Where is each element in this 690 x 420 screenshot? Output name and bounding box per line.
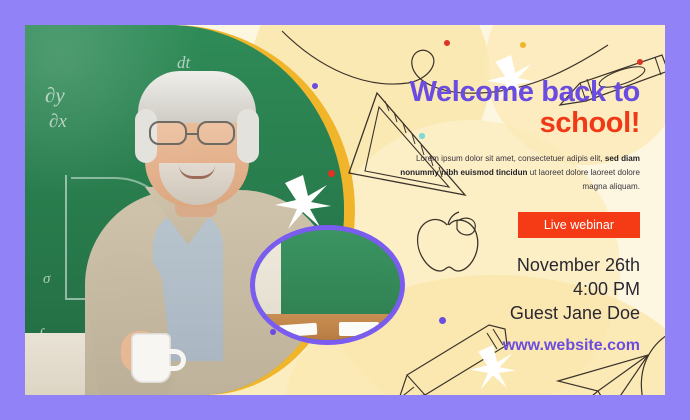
page-title: Welcome back to school!	[385, 77, 640, 140]
live-webinar-button[interactable]: Live webinar	[518, 212, 640, 238]
headline-line-1: Welcome back to	[385, 77, 640, 108]
body-copy-part1: Lorem ipsum dolor sit amet, consectetuer…	[416, 154, 605, 163]
body-copy: Lorem ipsum dolor sit amet, consectetuer…	[385, 152, 640, 194]
notebook-icon	[339, 322, 379, 336]
chalk-writing: σ	[43, 271, 50, 288]
chalk-writing: ∂y	[45, 83, 65, 108]
dot-yellow	[520, 42, 526, 48]
headline-line-2: school!	[385, 108, 640, 139]
coffee-mug-icon	[131, 333, 171, 383]
glasses-icon	[149, 121, 187, 145]
banner-root: ∂y ∂x dt ƒ(t) E= ∫ σ	[0, 0, 690, 420]
banner-canvas: ∂y ∂x dt ƒ(t) E= ∫ σ	[25, 25, 665, 395]
dot-red	[444, 40, 450, 46]
kids-oval-photo	[250, 225, 405, 345]
event-date: November 26th	[385, 254, 640, 278]
dot-red	[637, 59, 643, 65]
dot-red	[328, 170, 335, 177]
paper-plane-icon	[550, 353, 660, 395]
chalk-writing: ∂x	[49, 111, 67, 133]
chalk-writing: dt	[177, 53, 190, 73]
website-link[interactable]: www.website.com	[385, 337, 640, 355]
event-time: 4:00 PM	[385, 278, 640, 302]
content-block: Welcome back to school! Lorem ipsum dolo…	[385, 77, 640, 355]
glasses-bridge	[187, 133, 197, 136]
teacher-hair-side	[237, 109, 259, 163]
glasses-icon	[197, 121, 235, 145]
event-guest: Guest Jane Doe	[385, 302, 640, 326]
event-details: November 26th 4:00 PM Guest Jane Doe	[385, 254, 640, 325]
body-copy-part2: ut laoreet dolore laoreet dolore magna a…	[528, 168, 641, 191]
dot-purple	[312, 83, 318, 89]
